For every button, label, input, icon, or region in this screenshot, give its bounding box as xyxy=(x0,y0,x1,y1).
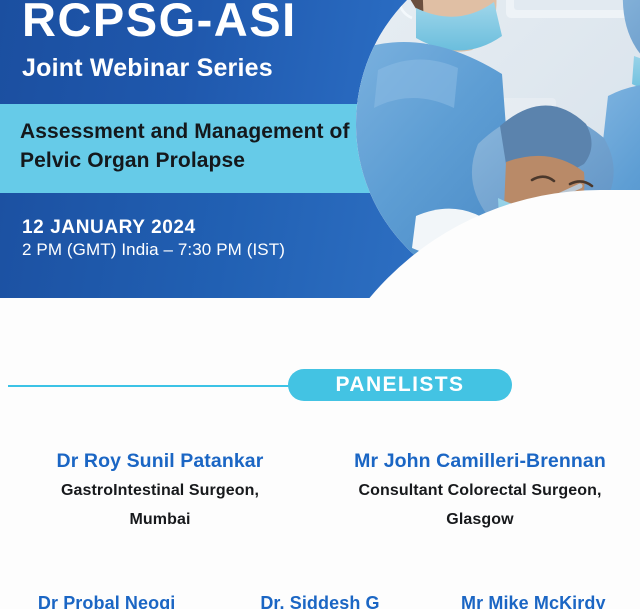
webinar-poster: RCPSG-ASI Joint Webinar Series Assessmen… xyxy=(0,0,640,609)
panelist-name: Mr Mike McKirdy xyxy=(433,590,634,609)
series-subtitle: Joint Webinar Series xyxy=(22,53,273,83)
panelist-row-1: Dr Roy Sunil Patankar GastroIntestinal S… xyxy=(0,448,640,532)
panelist-name: Dr Probal Neogi xyxy=(6,590,207,609)
panelists-divider-line xyxy=(8,385,308,387)
panelist-card: Dr Probal Neogi xyxy=(0,590,213,609)
panelist-role-line-2: Glasgow xyxy=(326,507,634,532)
webinar-time: 2 PM (GMT) India – 7:30 PM (IST) xyxy=(22,239,285,261)
panelist-role-line-1: Consultant Colorectal Surgeon, xyxy=(326,478,634,503)
header-bottom-mask xyxy=(0,298,640,312)
panelist-row-2: Dr Probal Neogi Dr. Siddesh G Mr Mike Mc… xyxy=(0,590,640,609)
panelist-card: Mr Mike McKirdy xyxy=(427,590,640,609)
panelist-role-line-2: Mumbai xyxy=(6,507,314,532)
panelist-card: Dr Roy Sunil Patankar GastroIntestinal S… xyxy=(0,448,320,532)
panelist-name: Dr Roy Sunil Patankar xyxy=(6,448,314,474)
poster-header: RCPSG-ASI Joint Webinar Series Assessmen… xyxy=(0,0,640,312)
panelist-name: Mr John Camilleri-Brennan xyxy=(326,448,634,474)
panelists-badge-label: PANELISTS xyxy=(336,373,465,397)
panelist-card: Mr John Camilleri-Brennan Consultant Col… xyxy=(320,448,640,532)
panelist-name: Dr. Siddesh G xyxy=(219,590,420,609)
panelist-card: Dr. Siddesh G xyxy=(213,590,426,609)
webinar-date: 12 JANUARY 2024 xyxy=(22,216,196,240)
organisation-title: RCPSG-ASI xyxy=(22,0,297,48)
panelist-role-line-1: GastroIntestinal Surgeon, xyxy=(6,478,314,503)
webinar-topic: Assessment and Management of Pelvic Orga… xyxy=(20,117,350,175)
panelists-badge: PANELISTS xyxy=(288,369,512,401)
